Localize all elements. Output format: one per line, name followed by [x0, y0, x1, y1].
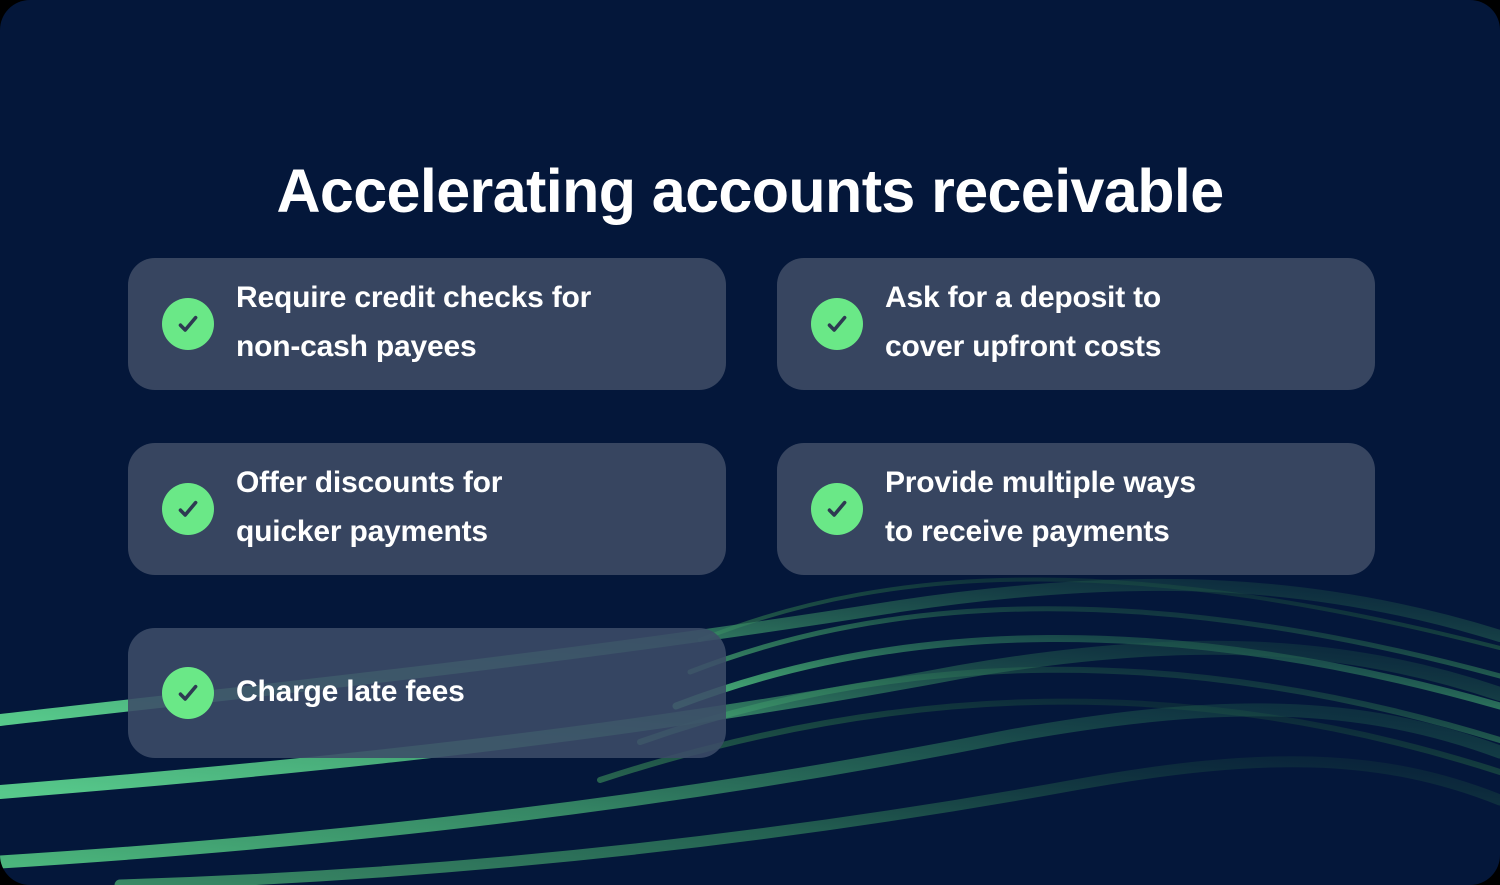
checklist-card[interactable]: Require credit checks for non-cash payee… [128, 258, 726, 390]
checklist-label: Offer discounts for quicker payments [236, 459, 502, 558]
check-icon [811, 298, 863, 350]
check-icon [162, 483, 214, 535]
checklist-grid: Require credit checks for non-cash payee… [128, 258, 1375, 758]
infographic-canvas: Accelerating accounts receivable Require… [0, 0, 1500, 885]
checklist-label: Provide multiple ways to receive payment… [885, 459, 1196, 558]
check-icon [811, 483, 863, 535]
checklist-label: Charge late fees [236, 668, 465, 719]
checklist-card[interactable]: Offer discounts for quicker payments [128, 443, 726, 575]
check-icon [162, 298, 214, 350]
checklist-card[interactable]: Provide multiple ways to receive payment… [777, 443, 1375, 575]
checklist-row: Offer discounts for quicker payments Pro… [128, 443, 1375, 575]
page-title: Accelerating accounts receivable [0, 159, 1500, 225]
checklist-row: Charge late fees [128, 628, 1375, 758]
checklist-card[interactable]: Charge late fees [128, 628, 726, 758]
checklist-row: Require credit checks for non-cash payee… [128, 258, 1375, 390]
checklist-label: Ask for a deposit to cover upfront costs [885, 274, 1161, 373]
check-icon [162, 667, 214, 719]
checklist-label: Require credit checks for non-cash payee… [236, 274, 591, 373]
infographic-surface: Accelerating accounts receivable Require… [0, 0, 1500, 885]
checklist-card[interactable]: Ask for a deposit to cover upfront costs [777, 258, 1375, 390]
